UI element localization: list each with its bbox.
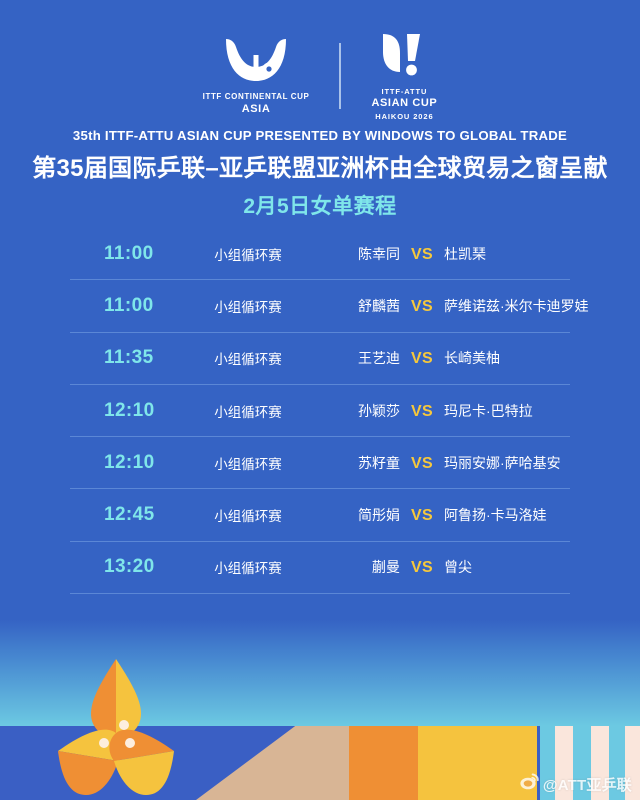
match-stage: 小组循环赛 <box>182 401 314 421</box>
match-stage: 小组循环赛 <box>182 296 314 316</box>
table-row: 11:00 小组循环赛 陈幸同 VS 杜凯琹 <box>70 228 570 280</box>
match-pairing: 苏籽童 VS 玛丽安娜·萨哈基安 <box>314 453 570 473</box>
match-pairing: 孙颖莎 VS 玛尼卡·巴特拉 <box>314 401 570 421</box>
orange-block <box>349 726 419 800</box>
player-left: 陈幸同 <box>322 244 400 264</box>
table-row: 12:45 小组循环赛 简彤娟 VS 阿鲁扬·卡马洛娃 <box>70 489 570 541</box>
vs-label: VS <box>400 298 444 316</box>
player-left: 蒯曼 <box>322 557 400 577</box>
match-time: 13:20 <box>70 556 182 578</box>
vs-label: VS <box>400 455 444 473</box>
player-left: 苏籽童 <box>322 453 400 473</box>
match-stage: 小组循环赛 <box>182 244 314 264</box>
weibo-watermark: @ATT亚乒联 <box>520 773 632 795</box>
match-pairing: 舒麟茜 VS 萨维诺兹·米尔卡迪罗娃 <box>314 296 589 316</box>
asian-cup-logo-line1: ITTF-ATTU <box>381 87 427 96</box>
match-time: 12:45 <box>70 504 182 526</box>
match-time: 11:00 <box>70 295 182 317</box>
poster-canvas: ITTF CONTINENTAL CUP ASIA ITTF-ATTU ASIA… <box>0 0 640 800</box>
match-pairing: 蒯曼 VS 曾尖 <box>314 557 570 577</box>
match-stage: 小组循环赛 <box>182 505 314 525</box>
match-time: 11:35 <box>70 347 182 369</box>
schedule-table: 11:00 小组循环赛 陈幸同 VS 杜凯琹 11:00 小组循环赛 舒麟茜 V… <box>70 228 570 594</box>
continental-cup-logo-line2: ASIA <box>242 103 271 117</box>
asian-cup-logo-line2: ASIAN CUP <box>371 97 437 111</box>
match-pairing: 简彤娟 VS 阿鲁扬·卡马洛娃 <box>314 505 570 525</box>
match-time: 12:10 <box>70 400 182 422</box>
continental-cup-logo-line1: ITTF CONTINENTAL CUP <box>203 92 310 102</box>
match-pairing: 陈幸同 VS 杜凯琹 <box>314 244 570 264</box>
table-row: 12:10 小组循环赛 苏籽童 VS 玛丽安娜·萨哈基安 <box>70 437 570 489</box>
match-pairing: 王艺迪 VS 长崎美柚 <box>314 348 570 368</box>
logo-divider <box>339 43 341 109</box>
vs-label: VS <box>400 246 444 264</box>
page-title-chinese: 第35届国际乒联–亚乒联盟亚洲杯由全球贸易之窗呈献 <box>0 148 640 183</box>
schedule-subtitle: 2月5日女单赛程 <box>0 190 640 220</box>
player-right: 玛丽安娜·萨哈基安 <box>444 453 561 473</box>
table-row: 13:20 小组循环赛 蒯曼 VS 曾尖 <box>70 542 570 594</box>
vs-label: VS <box>400 559 444 577</box>
asian-cup-logo-line3: HAIKOU 2026 <box>375 112 433 121</box>
match-stage: 小组循环赛 <box>182 557 314 577</box>
player-right: 阿鲁扬·卡马洛娃 <box>444 505 547 525</box>
ittf-attu-asian-cup-logo: ITTF-ATTU ASIAN CUP HAIKOU 2026 <box>371 31 437 122</box>
player-left: 王艺迪 <box>322 348 400 368</box>
player-right: 玛尼卡·巴特拉 <box>444 401 533 421</box>
player-left: 孙颖莎 <box>322 401 400 421</box>
watermark-handle: @ATT亚乒联 <box>543 774 632 795</box>
player-left: 简彤娟 <box>322 505 400 525</box>
vs-label: VS <box>400 403 444 421</box>
weibo-eye-icon <box>520 773 539 795</box>
match-stage: 小组循环赛 <box>182 348 314 368</box>
ittf-continental-cup-asia-logo: ITTF CONTINENTAL CUP ASIA <box>203 35 310 117</box>
vs-label: VS <box>400 507 444 525</box>
player-right: 曾尖 <box>444 557 472 577</box>
vs-label: VS <box>400 350 444 368</box>
match-time: 11:00 <box>70 243 182 265</box>
table-row: 12:10 小组循环赛 孙颖莎 VS 玛尼卡·巴特拉 <box>70 385 570 437</box>
match-time: 12:10 <box>70 452 182 474</box>
table-row: 11:00 小组循环赛 舒麟茜 VS 萨维诺兹·米尔卡迪罗娃 <box>70 280 570 332</box>
player-right: 长崎美柚 <box>444 348 500 368</box>
table-row: 11:35 小组循环赛 王艺迪 VS 长崎美柚 <box>70 333 570 385</box>
logo-row: ITTF CONTINENTAL CUP ASIA ITTF-ATTU ASIA… <box>0 28 640 124</box>
bauhinia-flower-emblem-icon <box>48 653 184 800</box>
player-right: 杜凯琹 <box>444 244 486 264</box>
player-right: 萨维诺兹·米尔卡迪罗娃 <box>444 296 589 316</box>
asian-cup-haikou-mark-icon <box>377 31 431 86</box>
continental-cup-mark-icon <box>220 35 292 92</box>
page-title-english: 35th ITTF-ATTU ASIAN CUP PRESENTED BY WI… <box>0 128 640 143</box>
player-left: 舒麟茜 <box>322 296 400 316</box>
match-stage: 小组循环赛 <box>182 453 314 473</box>
